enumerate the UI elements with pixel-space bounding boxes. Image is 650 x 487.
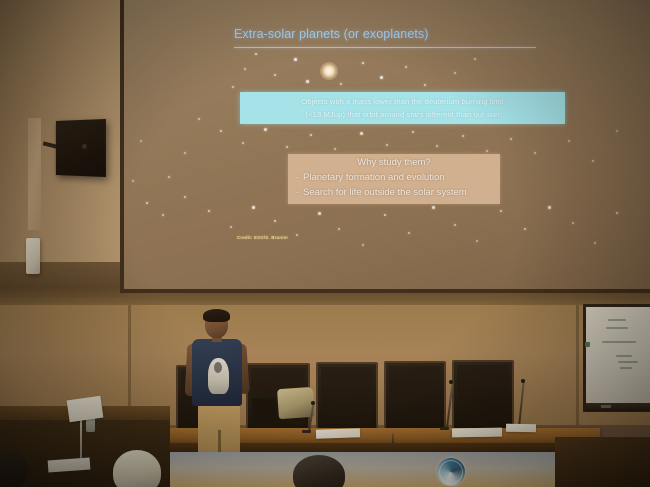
star [184, 152, 186, 154]
microphone-head-icon [449, 380, 453, 384]
star [362, 62, 364, 64]
star [500, 210, 502, 212]
star [146, 202, 148, 204]
star [386, 144, 388, 146]
star [220, 130, 222, 132]
star [436, 145, 438, 147]
star [524, 228, 526, 230]
emblem-ring [439, 460, 463, 484]
projection-screen: Extra-solar planets (or exoplanets) Obje… [124, 0, 650, 289]
wall-mounted-device [26, 238, 40, 274]
whiteboard-writing [606, 327, 628, 329]
star [340, 83, 342, 85]
microphone-cable [392, 433, 394, 443]
star [274, 220, 276, 222]
whiteboard-writing [616, 355, 632, 357]
star [616, 212, 618, 214]
wall-strip [28, 118, 41, 230]
star [616, 130, 618, 132]
whiteboard-marker [601, 405, 611, 408]
chair-back [457, 365, 509, 433]
foreground-wall [170, 452, 570, 487]
star [548, 206, 551, 209]
star [405, 66, 407, 68]
motivation-bullet-1: -Planetary formation and evolution [288, 170, 500, 185]
star [592, 160, 594, 162]
microphone-base [302, 430, 311, 433]
star [162, 214, 164, 216]
bag-on-chair [277, 387, 315, 419]
presenter-hair [203, 309, 230, 322]
definition-line-1: Objects with a mass lower than the deute… [301, 95, 503, 108]
star [486, 150, 488, 152]
star [132, 180, 134, 182]
audience-head-dark [293, 455, 345, 487]
wall-loudspeaker [56, 119, 106, 177]
star [208, 210, 210, 212]
lecture-room-photo: Extra-solar planets (or exoplanets) Obje… [0, 0, 650, 487]
star [572, 222, 574, 224]
motivation-bullet-2-label: Search for life outside the solar system [303, 187, 467, 198]
definition-callout-box: Objects with a mass lower than the deute… [240, 92, 565, 124]
star [318, 212, 321, 215]
papers-on-table [316, 428, 360, 439]
image-credit: Credit: ESO/S. Brunier [237, 235, 288, 240]
star [476, 240, 478, 242]
papers-on-desk [67, 396, 104, 423]
star [568, 140, 570, 142]
slide-starfield [124, 0, 650, 289]
star [462, 135, 464, 137]
microphone-head-icon [521, 379, 525, 383]
star [306, 80, 309, 83]
star [244, 68, 246, 70]
star [294, 58, 297, 61]
star [362, 244, 364, 246]
bullet-dash-icon: - [296, 185, 303, 200]
star [360, 132, 363, 135]
institution-emblem [437, 458, 465, 486]
bullet-dash-icon: - [296, 170, 303, 185]
star [242, 142, 244, 144]
star [286, 146, 288, 148]
equipment-on-chair [252, 398, 276, 422]
slide-title: Extra-solar planets (or exoplanets) [234, 27, 429, 41]
papers-on-table [452, 428, 502, 438]
definition-line-2: (<13 MJup) that orbit around stars diffe… [305, 108, 499, 121]
tshirt-graphic-detail [214, 362, 222, 373]
star [412, 131, 414, 133]
star [338, 228, 340, 230]
chair-back [321, 367, 373, 435]
whiteboard-writing [618, 361, 638, 363]
foreground-desk-right [555, 437, 650, 487]
star [534, 152, 536, 154]
star [140, 140, 142, 142]
whiteboard-magnet [585, 342, 590, 347]
star [510, 138, 512, 140]
star [432, 206, 435, 209]
star [408, 232, 410, 234]
star [334, 148, 336, 150]
whiteboard [586, 307, 650, 405]
star [474, 58, 476, 60]
whiteboard-writing [602, 341, 636, 343]
star [232, 86, 234, 88]
star [454, 224, 456, 226]
motivation-heading: Why study them? [288, 156, 500, 170]
star [252, 206, 255, 209]
star [230, 226, 232, 228]
motivation-bullet-1-label: Planetary formation and evolution [303, 172, 445, 183]
star [264, 128, 267, 131]
star [198, 118, 200, 120]
chair-back [389, 366, 441, 434]
bright-star [320, 62, 338, 80]
speaker-cone-icon [82, 144, 87, 149]
panel-chair [452, 360, 514, 438]
star [454, 72, 456, 74]
star [296, 234, 298, 236]
papers-on-table [506, 424, 536, 433]
microphone-head-icon [311, 401, 315, 405]
wall-seam-right [576, 305, 579, 425]
star [274, 74, 276, 76]
star [168, 176, 170, 178]
star [184, 196, 186, 198]
star [380, 76, 383, 79]
microphone-base [440, 427, 449, 430]
star [310, 134, 312, 136]
star [424, 84, 426, 86]
whiteboard-writing [608, 319, 626, 321]
slide-title-underline [234, 47, 536, 48]
star [255, 53, 257, 55]
star [384, 214, 386, 216]
motivation-callout-box: Why study them? -Planetary formation and… [288, 154, 500, 204]
whiteboard-writing [620, 367, 632, 369]
whiteboard-tray [586, 403, 650, 411]
motivation-bullet-2: -Search for life outside the solar syste… [288, 185, 500, 200]
audience-head-blond [113, 450, 161, 487]
star [594, 242, 596, 244]
